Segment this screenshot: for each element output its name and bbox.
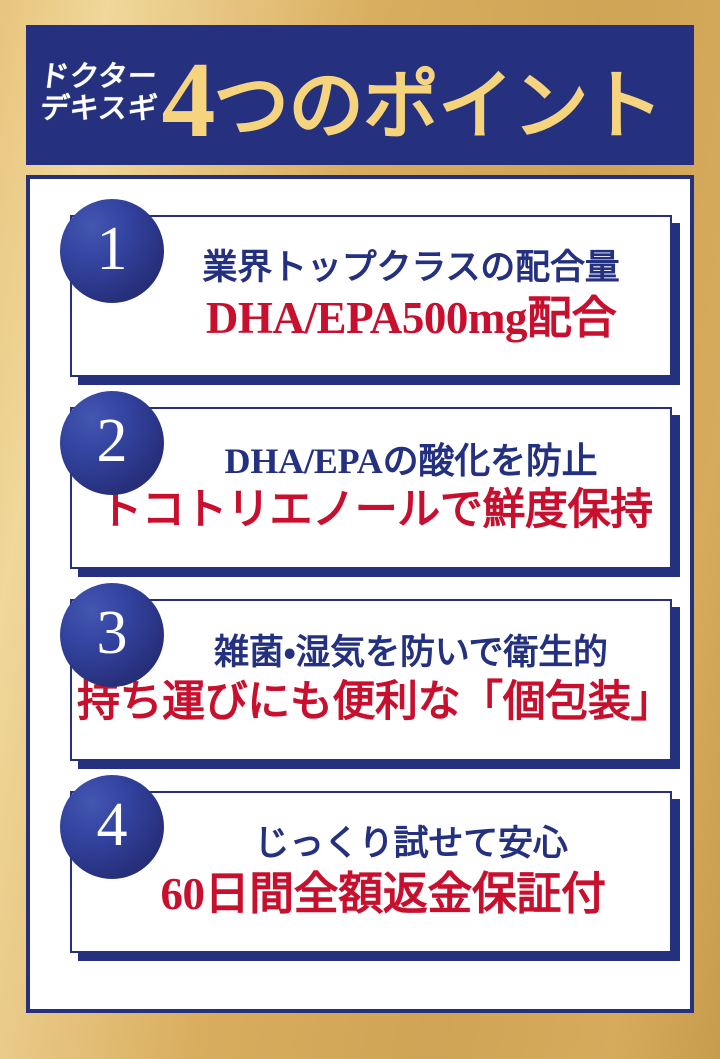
- headline: 4 つのポイント: [161, 46, 662, 143]
- points-list: 業界トップクラスの配合量 DHA/EPA500mg配合 1 DHA/EPAの酸化…: [48, 199, 672, 953]
- point-number-label: 3: [97, 602, 128, 664]
- point-highlight: DHA/EPA500mg配合: [206, 293, 616, 343]
- point-item-3: 雑菌・湿気を防いで衛生的 持ち運びにも便利な「個包装」 3: [48, 583, 672, 761]
- point-title: じっくり試せて安心: [254, 824, 567, 863]
- point-number-badge: 4: [60, 775, 164, 879]
- headline-rest: つのポイント: [213, 73, 662, 141]
- point-title: 雑菌・湿気を防いで衛生的: [214, 633, 608, 672]
- brand-line-2: デキスギ: [38, 95, 159, 123]
- point-number-badge: 2: [60, 391, 164, 495]
- point-number-badge: 3: [60, 583, 164, 687]
- point-item-4: じっくり試せて安心 60日間全額返金保証付 4: [48, 775, 672, 953]
- brand-name: ドクター デキスギ: [40, 63, 157, 127]
- points-panel: 業界トップクラスの配合量 DHA/EPA500mg配合 1 DHA/EPAの酸化…: [26, 175, 694, 1013]
- point-number-label: 2: [97, 410, 128, 472]
- point-number-badge: 1: [60, 199, 164, 303]
- poster-frame: ドクター デキスギ 4 つのポイント 業界トップクラスの配合量 DHA/EPA5…: [0, 0, 720, 1059]
- point-highlight: 持ち運びにも便利な「個包装」: [77, 679, 673, 727]
- point-number-label: 1: [97, 218, 128, 280]
- point-item-2: DHA/EPAの酸化を防止 トコトリエノールで鮮度保持 2: [48, 391, 672, 569]
- point-number-label: 4: [97, 794, 128, 856]
- point-highlight: 60日間全額返金保証付: [160, 869, 605, 919]
- header-banner: ドクター デキスギ 4 つのポイント: [26, 25, 694, 165]
- headline-number: 4: [161, 52, 213, 149]
- point-title: 業界トップクラスの配合量: [202, 248, 619, 287]
- point-highlight: トコトリエノールで鮮度保持: [99, 487, 652, 535]
- point-item-1: 業界トップクラスの配合量 DHA/EPA500mg配合 1: [48, 199, 672, 377]
- brand-line-1: ドクター: [38, 63, 159, 91]
- point-title: DHA/EPAの酸化を防止: [225, 441, 598, 481]
